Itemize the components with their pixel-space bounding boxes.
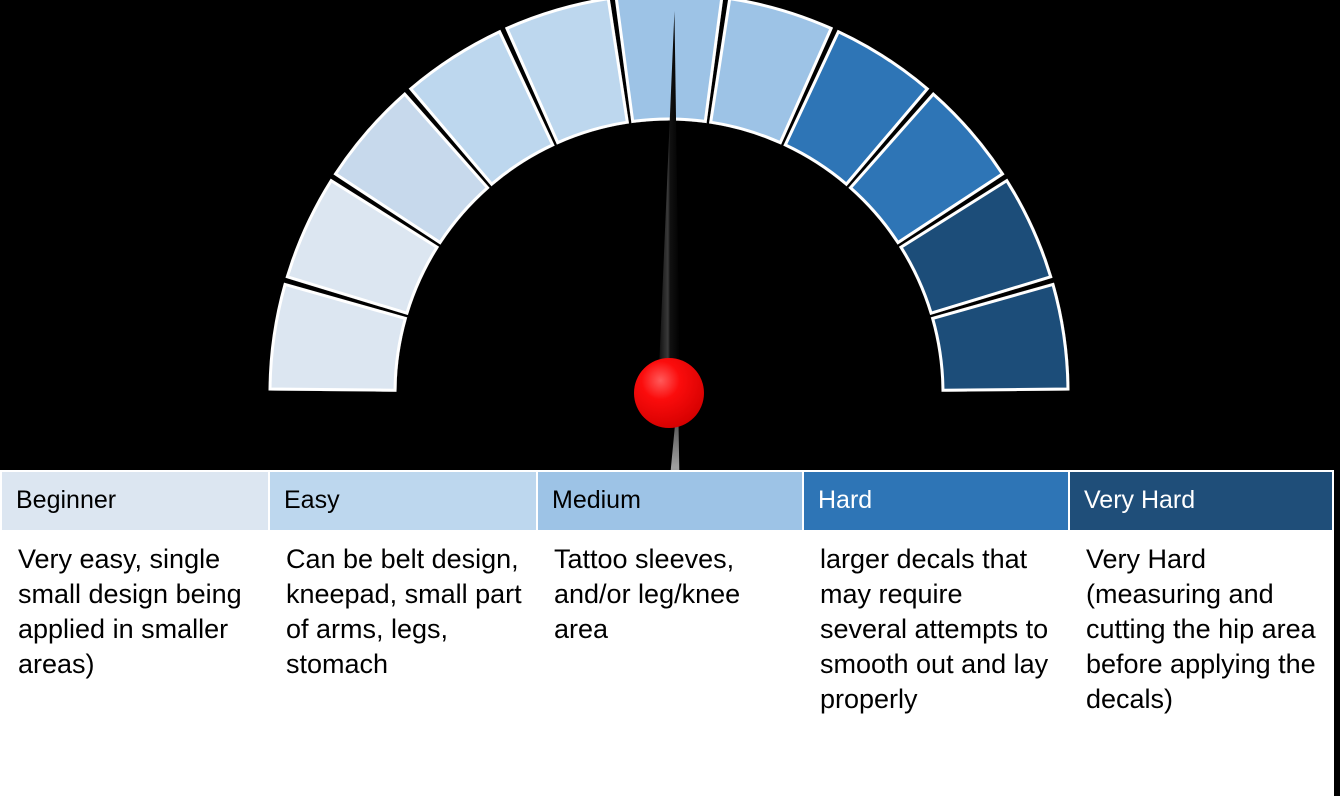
cell-very-hard: Very Hard (measuring and cutting the hip… [1069,531,1333,795]
difficulty-matrix-table: Beginner Easy Medium Hard Very Hard Very… [0,470,1334,796]
column-header-easy: Easy [269,471,537,531]
needle-hub [634,358,704,428]
gauge-svg [0,0,1340,480]
cell-beginner: Very easy, single small design being app… [1,531,269,795]
needle-tail-sliver [729,752,734,776]
column-header-very-hard: Very Hard [1069,471,1333,531]
cell-easy: Can be belt design, kneepad, small part … [269,531,537,795]
cell-hard: larger decals that may require several a… [803,531,1069,795]
slide-canvas: Beginner Easy Medium Hard Very Hard Very… [0,0,1340,776]
column-header-beginner: Beginner [1,471,269,531]
gauge-segment-6 [616,0,722,121]
gauge-chart [0,0,1340,480]
column-header-medium: Medium [537,471,803,531]
table-header-row: Beginner Easy Medium Hard Very Hard [1,471,1333,531]
cell-medium: Tattoo sleeves, and/or leg/knee area [537,531,803,795]
column-header-hard: Hard [803,471,1069,531]
table-row: Very easy, single small design being app… [1,531,1333,795]
